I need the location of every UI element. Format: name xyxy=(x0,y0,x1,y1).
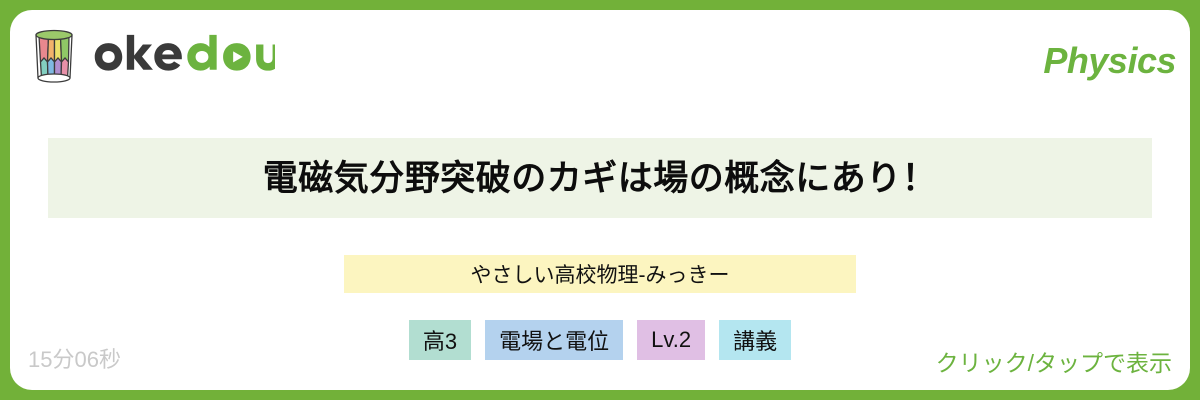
click-to-play-hint[interactable]: クリック/タップで表示 xyxy=(936,344,1172,378)
video-title-band: 電磁気分野突破のカギは場の概念にあり！ xyxy=(48,138,1152,218)
video-duration: 15分06秒 xyxy=(28,342,121,374)
tag-grade[interactable]: 高3 xyxy=(409,320,471,360)
pencil-cup-icon xyxy=(28,26,80,86)
tag-label: Lv.2 xyxy=(651,327,691,353)
channel-name: やさしい高校物理-みっきー xyxy=(471,259,730,289)
okedou-wordmark xyxy=(92,34,275,78)
brand-logo[interactable] xyxy=(28,26,275,86)
video-title: 電磁気分野突破のカギは場の概念にあり！ xyxy=(263,161,938,196)
video-card[interactable]: Physics 電磁気分野突破のカギは場の概念にあり！ やさしい高校物理-みっき… xyxy=(10,10,1190,390)
tag-label: 講義 xyxy=(733,324,777,356)
channel-band[interactable]: やさしい高校物理-みっきー xyxy=(344,255,856,293)
tag-topic[interactable]: 電場と電位 xyxy=(485,320,623,360)
card-header: Physics xyxy=(10,10,1190,106)
tag-level[interactable]: Lv.2 xyxy=(637,320,705,360)
section-label: Physics xyxy=(1043,40,1176,82)
tag-type[interactable]: 講義 xyxy=(719,320,791,360)
tag-label: 高3 xyxy=(423,324,457,356)
tag-label: 電場と電位 xyxy=(499,324,609,356)
